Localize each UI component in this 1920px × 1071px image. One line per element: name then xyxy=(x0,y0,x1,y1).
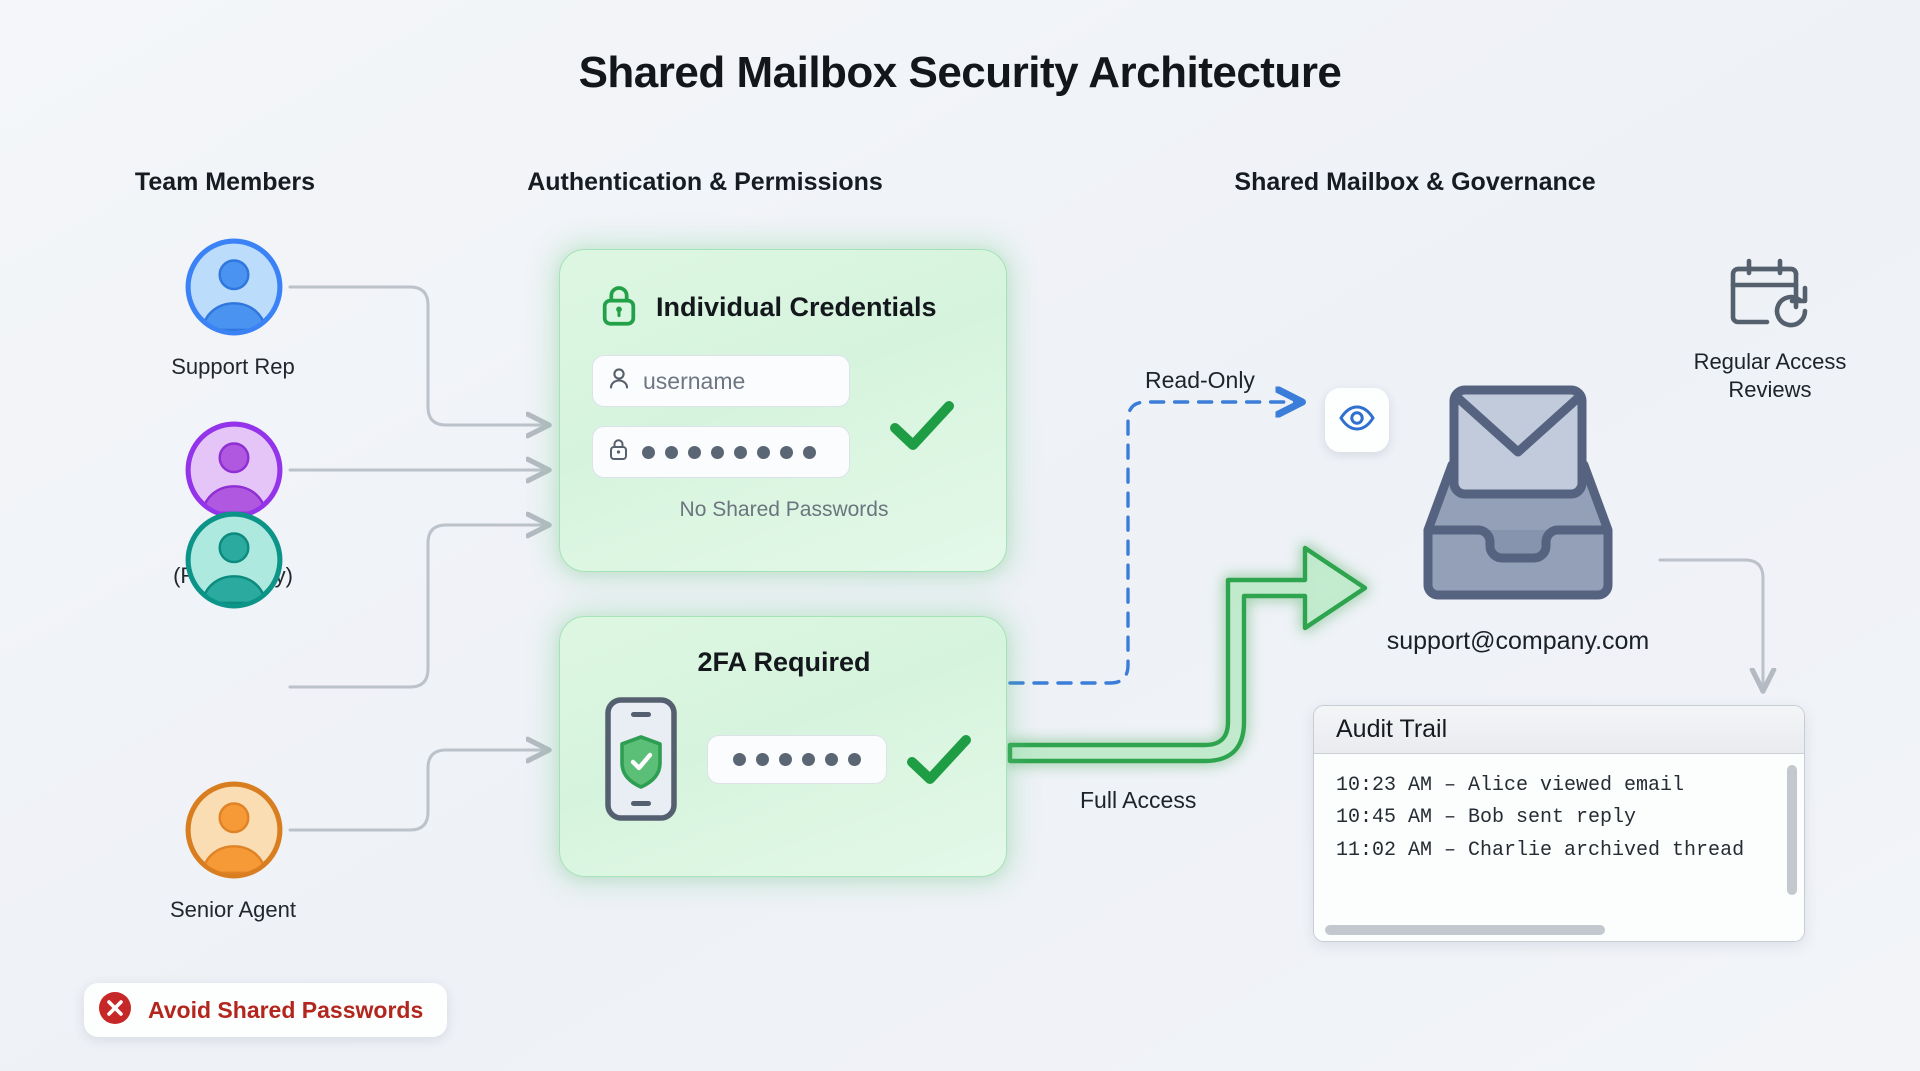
wire-read-only-dashed xyxy=(1010,402,1300,683)
lock-icon xyxy=(600,283,638,332)
avatar-senior-agent[interactable] xyxy=(183,779,285,881)
column-heading-team-members: Team Members xyxy=(60,168,390,197)
access-reviews-label-line2: Reviews xyxy=(1728,377,1811,402)
full-access-flow-label: Full Access xyxy=(1080,787,1196,814)
avatar-label-senior-agent: Senior Agent xyxy=(83,897,383,924)
avoid-shared-passwords-badge: Avoid Shared Passwords xyxy=(84,983,447,1037)
access-reviews-label: Regular Access Reviews xyxy=(1640,348,1900,403)
page-title: Shared Mailbox Security Architecture xyxy=(0,48,1920,98)
regular-access-reviews: Regular Access Reviews xyxy=(1640,255,1900,403)
no-shared-passwords-hint: No Shared Passwords xyxy=(560,498,1008,522)
phone-shield-icon xyxy=(605,697,677,826)
check-icon xyxy=(904,732,974,788)
person-icon xyxy=(608,367,630,395)
otp-masked-value xyxy=(733,753,861,766)
warning-badge-text: Avoid Shared Passwords xyxy=(148,997,423,1024)
shared-mailbox-icon xyxy=(1378,370,1658,610)
avatar-member-3[interactable] xyxy=(183,509,285,611)
access-reviews-label-line1: Regular Access xyxy=(1694,349,1847,374)
column-heading-authentication: Authentication & Permissions xyxy=(475,168,935,197)
wire-full-access-arrow xyxy=(1010,548,1365,761)
calendar-refresh-icon xyxy=(1727,320,1813,337)
wire-senior-agent xyxy=(290,750,548,830)
twofa-card-title: 2FA Required xyxy=(560,647,1008,678)
username-placeholder: username xyxy=(643,368,745,395)
lock-icon xyxy=(608,438,629,466)
audit-trail-entry: 10:23 AM – Alice viewed email xyxy=(1336,770,1804,802)
wire-mailbox-to-audit xyxy=(1660,560,1763,690)
audit-trail-panel: Audit Trail 10:23 AM – Alice viewed emai… xyxy=(1313,705,1805,942)
otp-input[interactable] xyxy=(707,735,887,784)
avatar-manager[interactable] xyxy=(183,419,285,521)
mailbox-email-address: support@company.com xyxy=(1318,627,1718,656)
read-only-flow-label: Read-Only xyxy=(1145,367,1255,394)
audit-trail-vertical-scrollbar[interactable] xyxy=(1787,765,1797,895)
username-input[interactable]: username xyxy=(592,355,850,407)
error-circle-icon xyxy=(97,990,133,1031)
eye-icon xyxy=(1339,405,1375,436)
diagram-canvas: Shared Mailbox Security Architecture Tea… xyxy=(0,0,1920,1071)
check-icon xyxy=(887,398,957,454)
avatar-label-support-rep: Support Rep xyxy=(83,354,383,381)
individual-credentials-card: Individual Credentials username xyxy=(559,249,1007,572)
column-heading-mailbox: Shared Mailbox & Governance xyxy=(1045,168,1785,197)
audit-trail-horizontal-scrollbar[interactable] xyxy=(1325,925,1605,935)
password-masked-value xyxy=(642,446,816,459)
audit-trail-body[interactable]: 10:23 AM – Alice viewed email 10:45 AM –… xyxy=(1314,754,1804,942)
password-input[interactable] xyxy=(592,426,850,478)
audit-trail-entry: 11:02 AM – Charlie archived thread xyxy=(1336,835,1804,867)
avatar-support-rep[interactable] xyxy=(183,236,285,338)
audit-trail-entry: 10:45 AM – Bob sent reply xyxy=(1336,802,1804,834)
two-factor-auth-card: 2FA Required xyxy=(559,616,1007,877)
credentials-card-title: Individual Credentials xyxy=(656,292,937,323)
audit-trail-header: Audit Trail xyxy=(1314,706,1804,754)
